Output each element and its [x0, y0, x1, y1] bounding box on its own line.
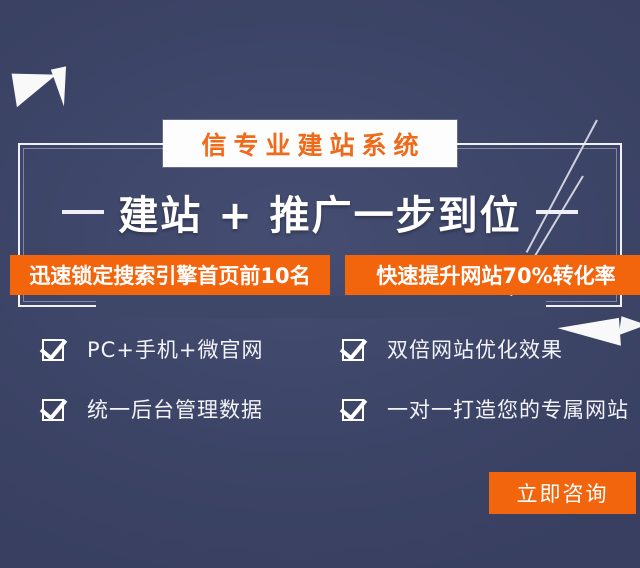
promo-banner: 信专业建站系统 建站 + 推广一步到位 迅速锁定搜索引擎首页前10名 快速提升网… — [0, 0, 640, 568]
feature-item-double-seo: 双倍网站优化效果 — [342, 330, 612, 368]
checkbox-checked-icon — [342, 397, 367, 422]
feature-item-one-on-one: 一对一打造您的专属网站 — [342, 390, 612, 428]
highlight-bar-ranking-label: 迅速锁定搜索引擎首页前10名 — [29, 260, 310, 290]
consult-now-button[interactable]: 立即咨询 — [489, 472, 636, 514]
feature-label: 统一后台管理数据 — [87, 394, 263, 424]
feature-item-multi-platform: PC+手机+微官网 — [42, 330, 342, 368]
highlight-bars: 迅速锁定搜索引擎首页前10名 快速提升网站70%转化率 — [0, 255, 640, 295]
feature-label: 双倍网站优化效果 — [387, 334, 563, 364]
frame-notch-bottom — [96, 296, 546, 318]
feature-label: 一对一打造您的专属网站 — [387, 394, 629, 424]
consult-now-label: 立即咨询 — [517, 478, 609, 508]
feature-item-unified-admin: 统一后台管理数据 — [42, 390, 342, 428]
highlight-bar-ranking: 迅速锁定搜索引擎首页前10名 — [10, 255, 330, 295]
page-title: 建站 + 推广一步到位 — [118, 183, 521, 241]
checkbox-checked-icon — [342, 337, 367, 362]
badge-tagline: 信专业建站系统 — [163, 120, 457, 167]
badge-tagline-label: 信专业建站系统 — [194, 126, 425, 162]
triangle-right-small-icon — [619, 316, 640, 338]
headline-row: 建站 + 推广一步到位 — [0, 184, 640, 240]
feature-label: PC+手机+微官网 — [87, 334, 264, 364]
triangle-top-left-small-icon — [49, 66, 66, 107]
headline-dash-left-icon — [62, 210, 104, 214]
highlight-bar-conversion: 快速提升网站70%转化率 — [345, 255, 640, 295]
headline-dash-right-icon — [536, 210, 578, 214]
feature-list: PC+手机+微官网 双倍网站优化效果 统一后台管理数据 一对一打造您的专属网站 — [42, 330, 612, 428]
highlight-bar-conversion-label: 快速提升网站70%转化率 — [376, 260, 615, 290]
checkbox-checked-icon — [42, 337, 67, 362]
checkbox-checked-icon — [42, 397, 67, 422]
